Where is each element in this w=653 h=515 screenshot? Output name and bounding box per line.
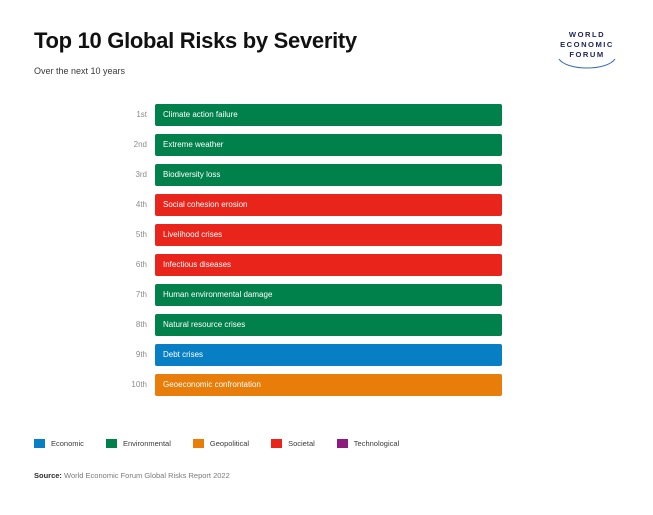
chart-row: 6thInfectious diseases xyxy=(0,254,653,276)
risk-label: Extreme weather xyxy=(163,134,223,156)
risk-label: Geoeconomic confrontation xyxy=(163,374,261,396)
page-subtitle: Over the next 10 years xyxy=(34,66,125,76)
chart-row: 5thLivelihood crises xyxy=(0,224,653,246)
legend-label: Economic xyxy=(51,439,84,448)
risk-label: Climate action failure xyxy=(163,104,238,126)
legend-swatch xyxy=(34,439,45,448)
rank-label: 4th xyxy=(100,194,147,216)
source-label: Source: xyxy=(34,471,62,480)
rank-label: 5th xyxy=(100,224,147,246)
risk-bar[interactable]: Debt crises xyxy=(155,344,502,366)
chart-row: 3rdBiodiversity loss xyxy=(0,164,653,186)
chart-legend: EconomicEnvironmentalGeopoliticalSocieta… xyxy=(34,436,421,450)
page-title: Top 10 Global Risks by Severity xyxy=(34,28,357,54)
rank-label: 7th xyxy=(100,284,147,306)
risk-bar[interactable]: Infectious diseases xyxy=(155,254,502,276)
source-note: Source: World Economic Forum Global Risk… xyxy=(34,471,230,480)
risk-label: Natural resource crises xyxy=(163,314,245,336)
risk-bar-chart: 1stClimate action failure2ndExtreme weat… xyxy=(0,104,653,404)
legend-item[interactable]: Economic xyxy=(34,439,84,448)
rank-label: 3rd xyxy=(100,164,147,186)
risk-label: Human environmental damage xyxy=(163,284,272,306)
chart-row: 2ndExtreme weather xyxy=(0,134,653,156)
legend-label: Geopolitical xyxy=(210,439,249,448)
risk-bar[interactable]: Climate action failure xyxy=(155,104,502,126)
legend-item[interactable]: Geopolitical xyxy=(193,439,249,448)
chart-row: 10thGeoeconomic confrontation xyxy=(0,374,653,396)
legend-swatch xyxy=(271,439,282,448)
source-text: World Economic Forum Global Risks Report… xyxy=(62,471,230,480)
wef-logo-line-1: WORLD xyxy=(569,30,605,39)
risk-bar[interactable]: Geoeconomic confrontation xyxy=(155,374,502,396)
legend-swatch xyxy=(106,439,117,448)
risk-bar[interactable]: Extreme weather xyxy=(155,134,502,156)
risk-bar[interactable]: Social cohesion erosion xyxy=(155,194,502,216)
chart-row: 4thSocial cohesion erosion xyxy=(0,194,653,216)
chart-row: 8thNatural resource crises xyxy=(0,314,653,336)
legend-item[interactable]: Societal xyxy=(271,439,315,448)
rank-label: 6th xyxy=(100,254,147,276)
rank-label: 9th xyxy=(100,344,147,366)
risk-bar[interactable]: Human environmental damage xyxy=(155,284,502,306)
header: Top 10 Global Risks by Severity Over the… xyxy=(0,0,653,95)
rank-label: 8th xyxy=(100,314,147,336)
legend-item[interactable]: Technological xyxy=(337,439,399,448)
wef-logo: WORLD ECONOMIC FORUM xyxy=(549,30,625,72)
wef-logo-line-2: ECONOMIC xyxy=(560,40,614,49)
legend-label: Societal xyxy=(288,439,315,448)
legend-label: Environmental xyxy=(123,439,171,448)
risk-label: Livelihood crises xyxy=(163,224,222,246)
rank-label: 2nd xyxy=(100,134,147,156)
legend-swatch xyxy=(193,439,204,448)
legend-item[interactable]: Environmental xyxy=(106,439,171,448)
chart-row: 9thDebt crises xyxy=(0,344,653,366)
risk-bar[interactable]: Biodiversity loss xyxy=(155,164,502,186)
risk-label: Debt crises xyxy=(163,344,203,366)
chart-row: 7thHuman environmental damage xyxy=(0,284,653,306)
rank-label: 10th xyxy=(100,374,147,396)
rank-label: 1st xyxy=(100,104,147,126)
legend-swatch xyxy=(337,439,348,448)
risk-bar[interactable]: Natural resource crises xyxy=(155,314,502,336)
wef-logo-text: WORLD ECONOMIC FORUM xyxy=(549,30,625,61)
wef-logo-arc-icon xyxy=(557,58,617,72)
risk-label: Infectious diseases xyxy=(163,254,231,276)
chart-row: 1stClimate action failure xyxy=(0,104,653,126)
risk-bar[interactable]: Livelihood crises xyxy=(155,224,502,246)
legend-label: Technological xyxy=(354,439,399,448)
risk-label: Social cohesion erosion xyxy=(163,194,248,216)
risk-label: Biodiversity loss xyxy=(163,164,220,186)
